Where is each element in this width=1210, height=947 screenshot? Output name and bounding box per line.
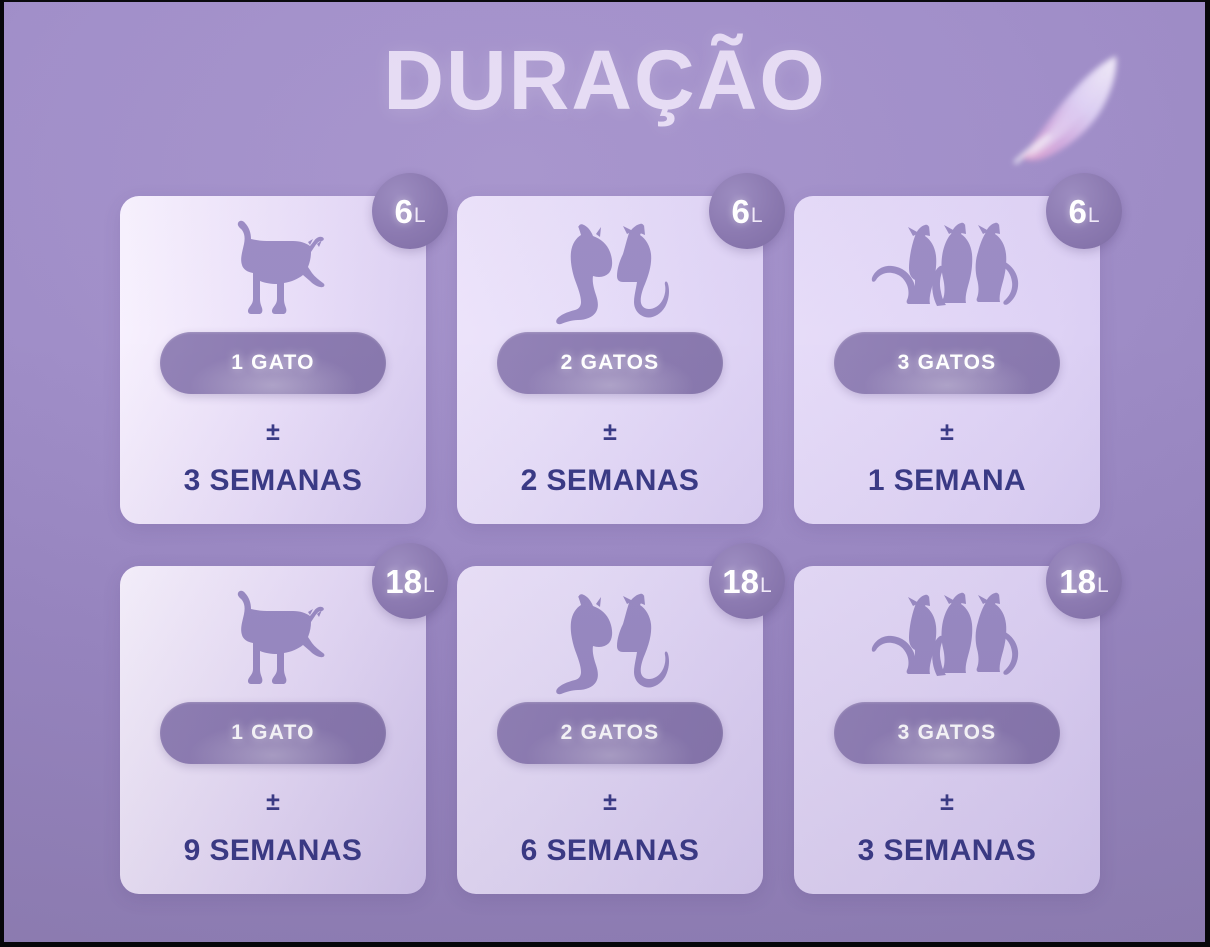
duration-card[interactable]: 6 L 2 GATOS bbox=[457, 196, 763, 524]
cat-count-pill[interactable]: 3 GATOS bbox=[834, 702, 1060, 764]
frame-bottom-edge bbox=[0, 942, 1210, 947]
plus-minus-symbol: ± bbox=[266, 790, 280, 815]
cat-count-pill[interactable]: 1 GATO bbox=[160, 702, 386, 764]
duration-label: 3 SEMANAS bbox=[858, 836, 1037, 866]
duration-label: 1 SEMANA bbox=[868, 466, 1026, 496]
liters-unit: L bbox=[414, 205, 426, 226]
liters-badge: 18 L bbox=[372, 543, 448, 619]
duration-label: 3 SEMANAS bbox=[184, 466, 363, 496]
duration-label: 2 SEMANAS bbox=[521, 466, 700, 496]
liters-badge: 6 L bbox=[709, 173, 785, 249]
liters-badge: 6 L bbox=[372, 173, 448, 249]
page-title: DURAÇÃO bbox=[0, 36, 1210, 124]
liters-number: 18 bbox=[1059, 565, 1096, 598]
cat-count-label: 2 GATOS bbox=[561, 351, 660, 375]
cat-count-label: 3 GATOS bbox=[898, 351, 997, 375]
duration-label: 6 SEMANAS bbox=[521, 836, 700, 866]
liters-number: 6 bbox=[1068, 195, 1086, 228]
frame-top-edge bbox=[0, 0, 1210, 2]
cat-count-label: 1 GATO bbox=[231, 351, 314, 375]
plus-minus-symbol: ± bbox=[603, 790, 617, 815]
liters-number: 18 bbox=[385, 565, 422, 598]
cat-count-pill[interactable]: 1 GATO bbox=[160, 332, 386, 394]
liters-unit: L bbox=[751, 205, 763, 226]
infographic-canvas: DURAÇÃO 6 L bbox=[0, 0, 1210, 947]
liters-number: 18 bbox=[722, 565, 759, 598]
plus-minus-symbol: ± bbox=[940, 790, 954, 815]
cat-count-label: 3 GATOS bbox=[898, 721, 997, 745]
liters-badge: 18 L bbox=[1046, 543, 1122, 619]
liters-badge: 18 L bbox=[709, 543, 785, 619]
liters-number: 6 bbox=[731, 195, 749, 228]
liters-unit: L bbox=[760, 575, 772, 596]
duration-card[interactable]: 18 L bbox=[794, 566, 1100, 894]
liters-unit: L bbox=[1088, 205, 1100, 226]
plus-minus-symbol: ± bbox=[603, 420, 617, 445]
duration-card[interactable]: 6 L bbox=[794, 196, 1100, 524]
liters-unit: L bbox=[1097, 575, 1109, 596]
liters-badge: 6 L bbox=[1046, 173, 1122, 249]
liters-unit: L bbox=[423, 575, 435, 596]
cat-count-pill[interactable]: 2 GATOS bbox=[497, 702, 723, 764]
duration-card[interactable]: 6 L 1 GATO ± 3 SEMANAS bbox=[120, 196, 426, 524]
cat-count-label: 1 GATO bbox=[231, 721, 314, 745]
frame-right-edge bbox=[1205, 0, 1210, 947]
cards-grid: 6 L 1 GATO ± 3 SEMANAS 6 bbox=[120, 196, 1100, 894]
plus-minus-symbol: ± bbox=[266, 420, 280, 445]
liters-number: 6 bbox=[394, 195, 412, 228]
duration-card[interactable]: 18 L 1 GATO ± 9 SEMANAS bbox=[120, 566, 426, 894]
cat-count-pill[interactable]: 3 GATOS bbox=[834, 332, 1060, 394]
plus-minus-symbol: ± bbox=[940, 420, 954, 445]
duration-card[interactable]: 18 L 2 GATOS ± 6 SE bbox=[457, 566, 763, 894]
cat-count-pill[interactable]: 2 GATOS bbox=[497, 332, 723, 394]
cat-count-label: 2 GATOS bbox=[561, 721, 660, 745]
duration-label: 9 SEMANAS bbox=[184, 836, 363, 866]
frame-left-edge bbox=[0, 0, 4, 947]
